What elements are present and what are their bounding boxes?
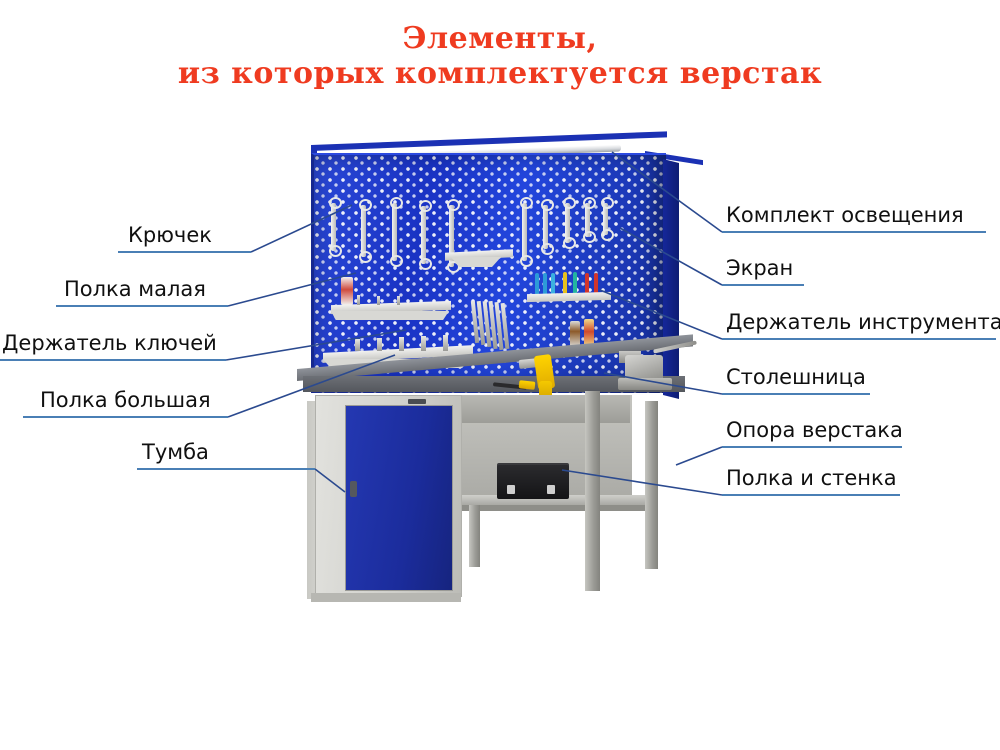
toolbox-latch-left	[507, 485, 515, 494]
callout-underline-полка-и-стенка	[722, 494, 900, 496]
socket-1	[357, 295, 360, 305]
wrench-7	[543, 205, 548, 249]
small-shelf-left-bracket	[331, 311, 449, 320]
can-a	[570, 321, 580, 347]
wrench-6	[522, 203, 527, 261]
callout-label-экран: Экран	[726, 256, 793, 280]
holder-item-2	[377, 338, 382, 351]
wrench-1	[331, 203, 336, 251]
holder-item-3	[399, 337, 404, 351]
socket-2	[377, 296, 380, 305]
callout-label-полка-малая: Полка малая	[64, 277, 206, 301]
toolbox-latch-right	[547, 485, 555, 494]
callout-underline-тумба	[137, 468, 315, 470]
callout-label-столешница: Столешница	[726, 365, 866, 389]
wrench-4	[421, 206, 426, 264]
wrench-8	[565, 203, 570, 243]
wrench-3	[392, 203, 397, 261]
callout-underline-полка-малая	[56, 305, 228, 307]
cabinet-door	[345, 405, 453, 591]
holder-item-5	[443, 335, 448, 351]
holder-item-1	[355, 339, 360, 351]
bench-leg-front-right	[585, 391, 600, 591]
cabinet-lock-icon	[350, 481, 357, 497]
callout-underline-опора-верстака	[722, 446, 902, 448]
callout-underline-держатель-ключей	[0, 359, 226, 361]
callout-underline-держатель-инструмента	[722, 338, 996, 340]
callout-underline-комплект-освещения	[722, 231, 986, 233]
vise-base	[618, 378, 672, 390]
callout-label-держатель-инструмента: Держатель инструмента	[726, 310, 1000, 334]
lower-shelf-edge	[460, 505, 658, 511]
callout-label-полка-большая: Полка большая	[40, 388, 211, 412]
page-title: Элементы, из которых комплектуется верст…	[0, 22, 1000, 92]
wrench-2	[361, 205, 366, 257]
tool-holder-item-3	[551, 273, 555, 295]
callout-label-тумба: Тумба	[142, 440, 209, 464]
spray-can-white	[341, 277, 353, 305]
socket-3	[397, 296, 400, 305]
callout-underline-столешница	[722, 393, 870, 395]
cabinet-plinth	[311, 593, 461, 602]
callout-label-крючек: Крючек	[128, 223, 212, 247]
callout-underline-крючек	[118, 251, 251, 253]
title-line-1: Элементы,	[0, 22, 1000, 56]
wrench-10	[603, 203, 608, 235]
pegboard-right-edge	[663, 159, 679, 399]
cabinet-handle	[408, 399, 426, 404]
callout-label-опора-верстака: Опора верстака	[726, 418, 903, 442]
holder-item-4	[421, 336, 426, 351]
callout-label-комплект-освещения: Комплект освещения	[726, 203, 964, 227]
apron	[460, 395, 630, 423]
tool-holder-item-1	[535, 273, 539, 295]
wrench-9	[585, 203, 590, 237]
callout-underline-экран	[722, 284, 804, 286]
title-line-2: из которых комплектуется верстак	[0, 56, 1000, 92]
callout-label-держатель-ключей: Держатель ключей	[2, 331, 217, 355]
workbench-illustration	[293, 133, 713, 613]
bench-leg-back-right	[645, 401, 658, 569]
callout-label-полка-и-стенка: Полка и стенка	[726, 466, 897, 490]
diagram-canvas: Элементы, из которых комплектуется верст…	[0, 0, 1000, 750]
bench-leg-back-left	[469, 505, 480, 567]
callout-underline-полка-большая	[23, 416, 228, 418]
screwdriver-handle	[519, 380, 536, 390]
